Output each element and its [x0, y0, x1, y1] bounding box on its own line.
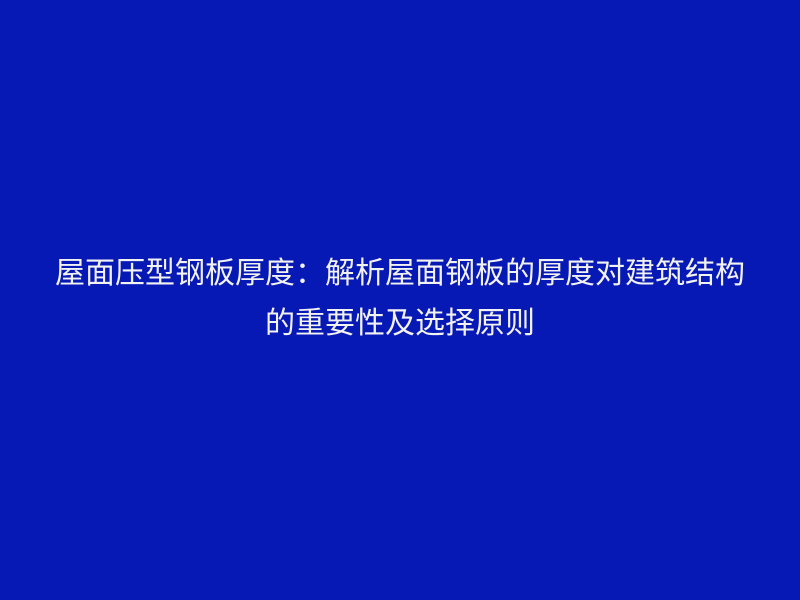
page-title: 屋面压型钢板厚度：解析屋面钢板的厚度对建筑结构的重要性及选择原则: [50, 249, 750, 349]
title-slide: 屋面压型钢板厚度：解析屋面钢板的厚度对建筑结构的重要性及选择原则: [0, 0, 800, 600]
title-block: 屋面压型钢板厚度：解析屋面钢板的厚度对建筑结构的重要性及选择原则: [50, 249, 750, 349]
